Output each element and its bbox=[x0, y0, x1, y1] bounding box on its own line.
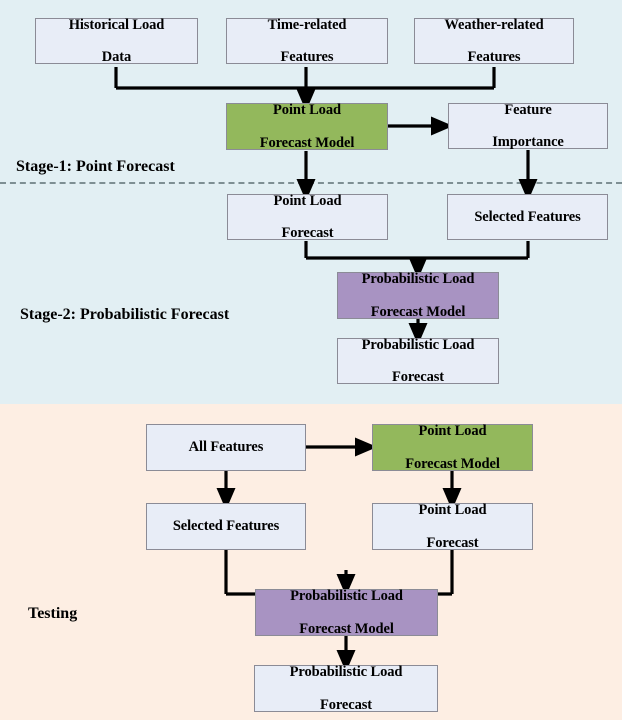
node-line-1: Point Load bbox=[257, 102, 358, 118]
node-point-load-forecast-model-testing[interactable]: Point LoadForecast Model bbox=[372, 424, 533, 471]
node-line-2: Importance bbox=[489, 134, 567, 150]
node-point-load-forecast-stage2[interactable]: Point LoadForecast bbox=[227, 194, 388, 240]
node-line-2: Forecast Model bbox=[359, 304, 478, 320]
node-point-load-forecast-model-stage1[interactable]: Point LoadForecast Model bbox=[226, 103, 388, 150]
node-line-2: Forecast bbox=[416, 535, 490, 551]
node-line-2: Forecast Model bbox=[287, 621, 406, 637]
node-selected-features-testing[interactable]: Selected Features bbox=[146, 503, 306, 550]
node-line-2: Features bbox=[441, 49, 546, 65]
node-probabilistic-load-forecast-model-stage2[interactable]: Probabilistic LoadForecast Model bbox=[337, 272, 499, 319]
node-feature-importance[interactable]: FeatureImportance bbox=[448, 103, 608, 149]
stage-2-label: Stage-2: Probabilistic Forecast bbox=[20, 306, 229, 324]
node-line-2: Data bbox=[66, 49, 168, 65]
diagram-canvas: Historical LoadData Time-relatedFeatures… bbox=[0, 0, 622, 720]
stage-1-label: Stage-1: Point Forecast bbox=[16, 158, 175, 176]
node-line-1: Probabilistic Load bbox=[287, 588, 406, 604]
node-probabilistic-load-forecast-stage2[interactable]: Probabilistic LoadForecast bbox=[337, 338, 499, 384]
testing-label: Testing bbox=[28, 605, 77, 623]
node-line-1: Probabilistic Load bbox=[359, 271, 478, 287]
node-line-1: Point Load bbox=[416, 502, 490, 518]
node-line-1: Point Load bbox=[402, 423, 503, 439]
node-line-2: Features bbox=[265, 49, 350, 65]
node-time-related-features[interactable]: Time-relatedFeatures bbox=[226, 18, 388, 64]
node-line-2: Forecast bbox=[287, 697, 406, 713]
node-line-1: Selected Features bbox=[471, 209, 583, 225]
node-all-features[interactable]: All Features bbox=[146, 424, 306, 471]
node-line-1: Probabilistic Load bbox=[287, 664, 406, 680]
node-line-2: Forecast bbox=[271, 225, 345, 241]
node-line-1: Weather-related bbox=[441, 17, 546, 33]
node-line-2: Forecast Model bbox=[402, 456, 503, 472]
node-line-1: Historical Load bbox=[66, 17, 168, 33]
node-line-2: Forecast bbox=[359, 369, 478, 385]
node-historical-load-data[interactable]: Historical LoadData bbox=[35, 18, 198, 64]
node-point-load-forecast-testing[interactable]: Point LoadForecast bbox=[372, 503, 533, 550]
node-line-2: Forecast Model bbox=[257, 135, 358, 151]
node-probabilistic-load-forecast-testing[interactable]: Probabilistic LoadForecast bbox=[254, 665, 438, 712]
node-line-1: Probabilistic Load bbox=[359, 337, 478, 353]
node-line-1: Feature bbox=[489, 102, 567, 118]
node-probabilistic-load-forecast-model-testing[interactable]: Probabilistic LoadForecast Model bbox=[255, 589, 438, 636]
node-selected-features-stage2[interactable]: Selected Features bbox=[447, 194, 608, 240]
node-line-1: Time-related bbox=[265, 17, 350, 33]
node-line-1: Selected Features bbox=[170, 518, 282, 534]
node-line-1: Point Load bbox=[271, 193, 345, 209]
node-weather-related-features[interactable]: Weather-relatedFeatures bbox=[414, 18, 574, 64]
node-line-1: All Features bbox=[186, 439, 267, 455]
stage-separator-dashed-line bbox=[0, 182, 622, 184]
